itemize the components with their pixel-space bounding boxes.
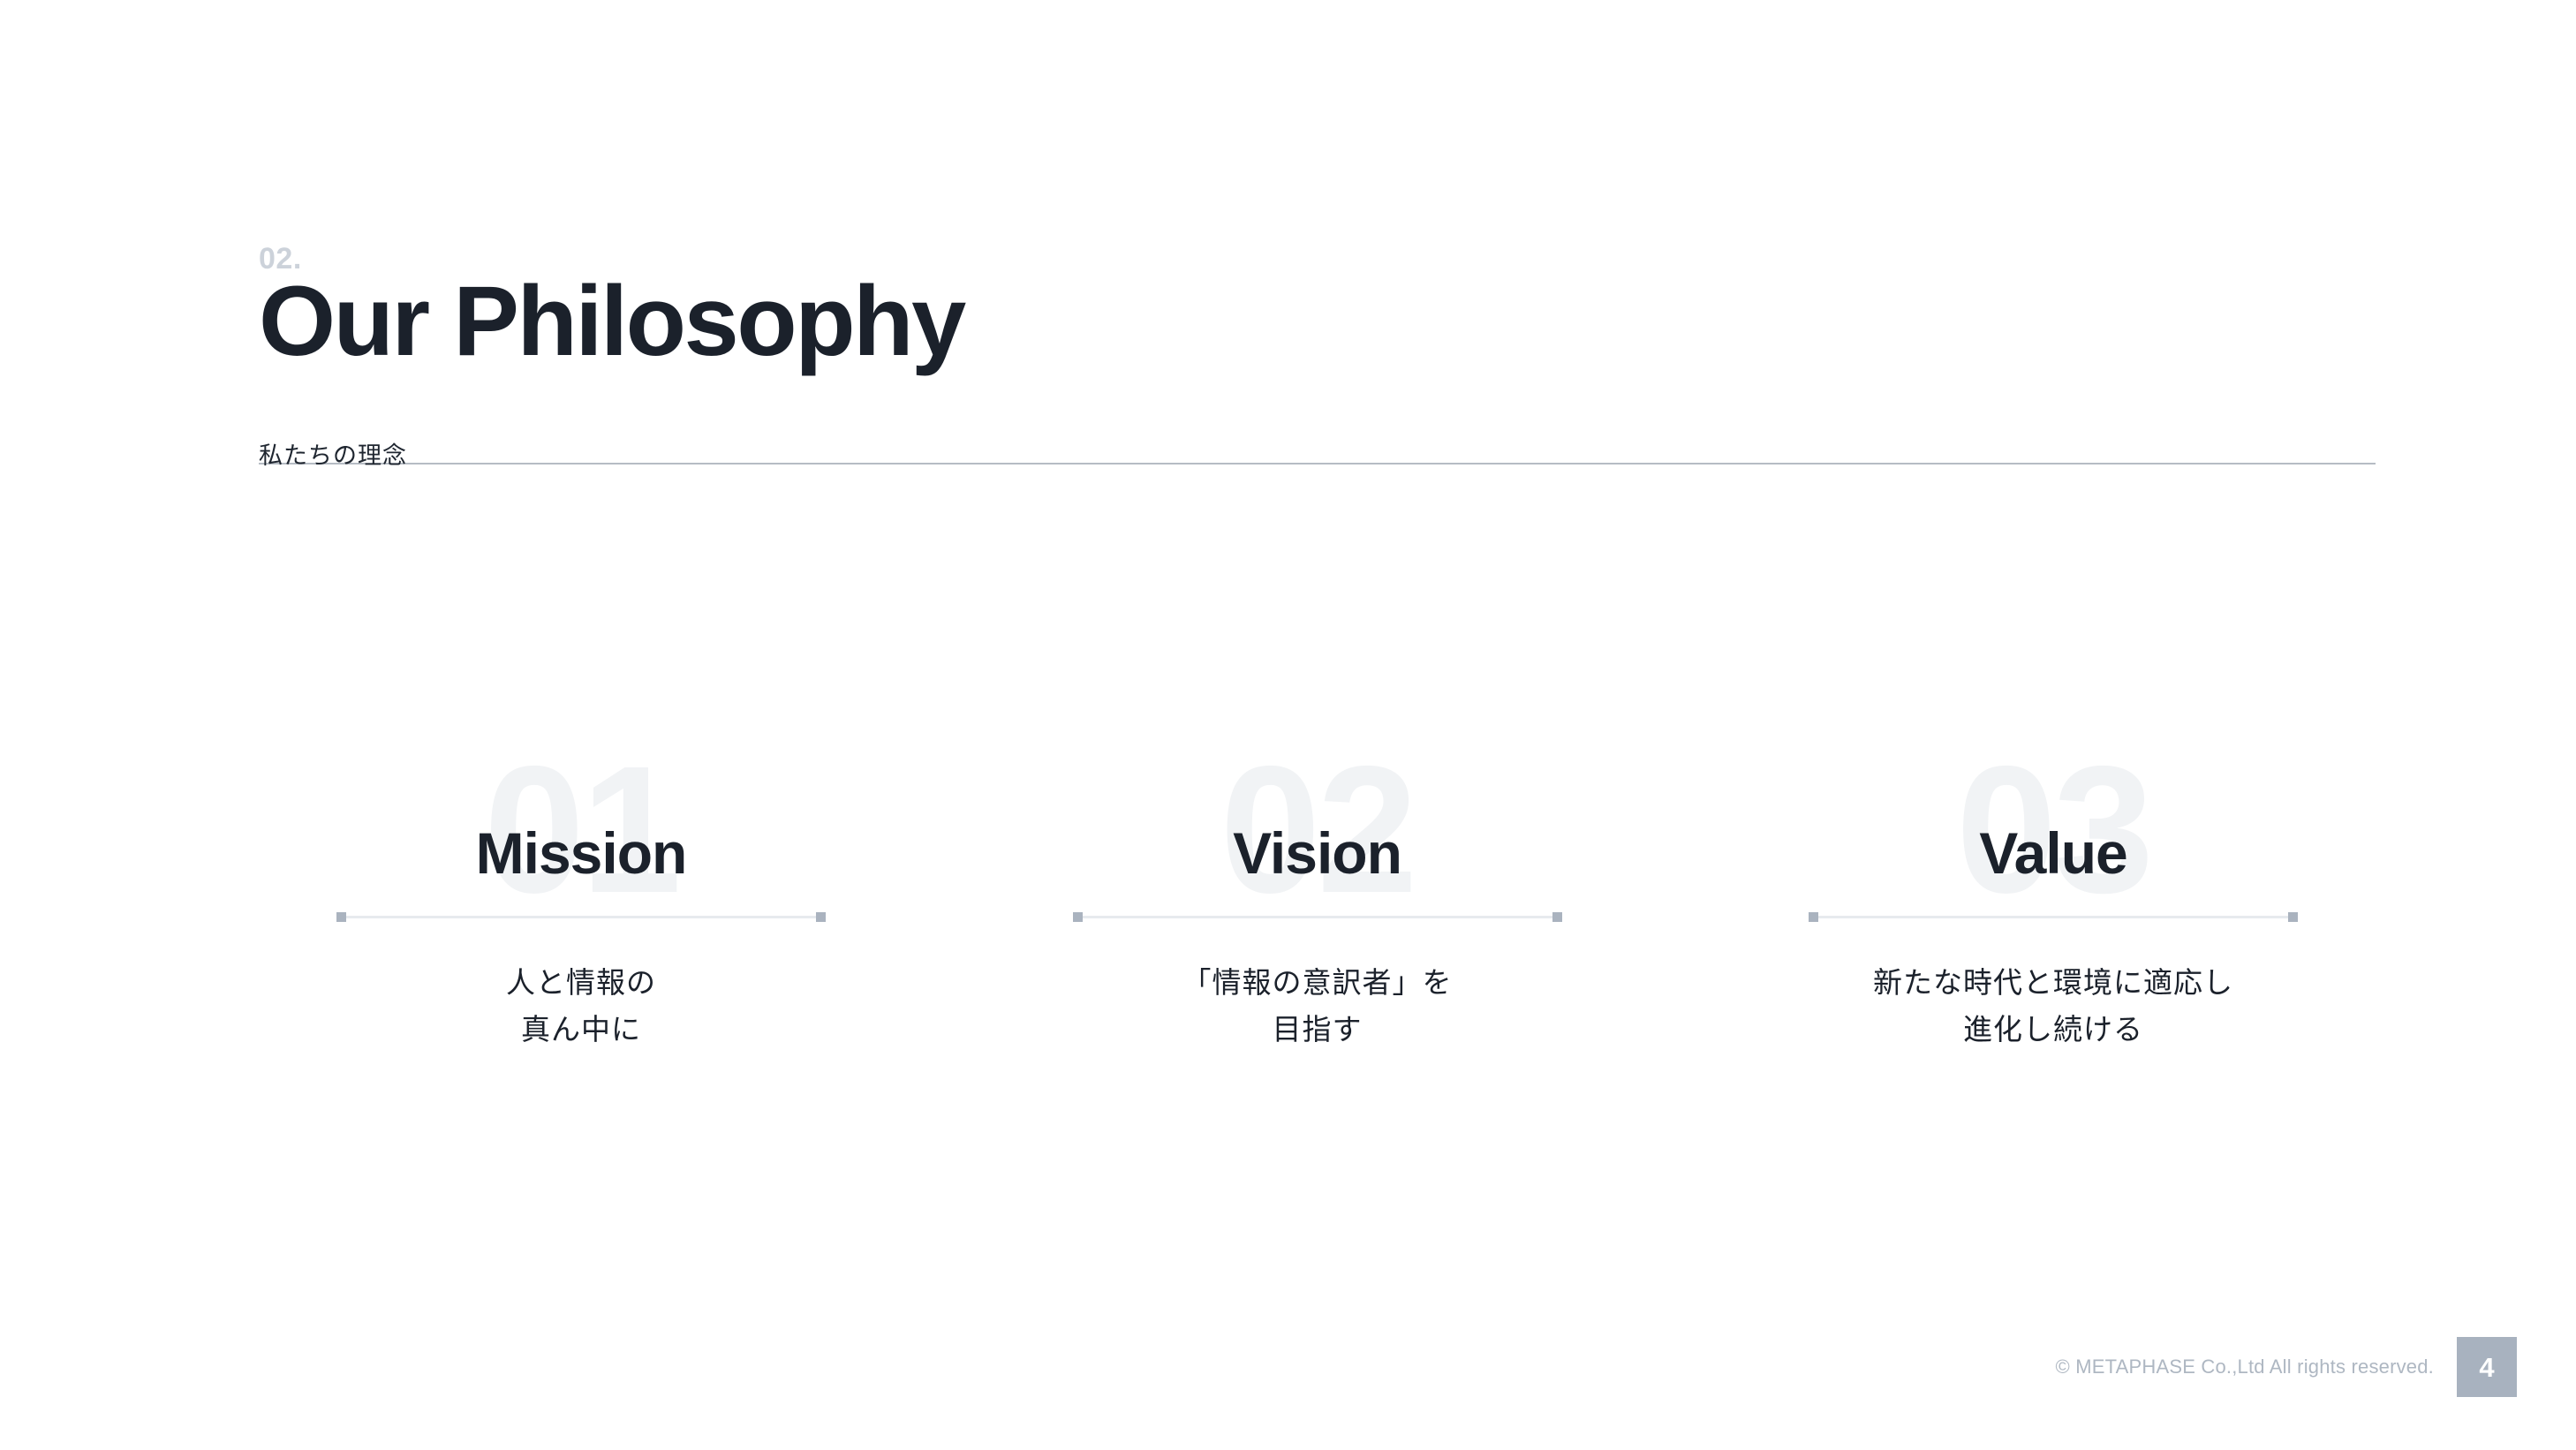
column-divider-line <box>1075 916 1560 918</box>
title-underline-rule <box>259 463 2376 464</box>
slide-canvas: 02. Our Philosophy 私たちの理念 01 Mission 人と情… <box>0 0 2576 1450</box>
column-body-vision: 「情報の意訳者」を 目指す <box>1182 959 1453 1054</box>
column-body-line-2: 真ん中に <box>506 1006 656 1053</box>
title-row: Our Philosophy <box>259 286 2378 401</box>
column-title-vision: Vision <box>1233 824 1401 882</box>
column-body-value: 新たな時代と環境に適応し 進化し続ける <box>1873 959 2233 1054</box>
page-number-badge: 4 <box>2457 1337 2517 1397</box>
copyright-text: © METAPHASE Co.,Ltd All rights reserved. <box>2055 1357 2434 1377</box>
column-body-line-1: 「情報の意訳者」を <box>1182 959 1453 1006</box>
column-title-mission: Mission <box>476 824 687 882</box>
column-title-value: Value <box>1979 824 2127 882</box>
page-title: Our Philosophy <box>259 272 977 371</box>
philosophy-columns: 01 Mission 人と情報の 真ん中に 02 Vision 「情報の意訳者」… <box>259 755 2376 1054</box>
page-subtitle: 私たちの理念 <box>259 444 407 468</box>
column-body-line-1: 新たな時代と環境に適応し <box>1873 959 2233 1006</box>
column-head: 03 Value <box>1731 755 2376 927</box>
column-divider-line <box>1810 916 2296 918</box>
column-body-line-2: 目指す <box>1182 1006 1453 1053</box>
slide-footer: © METAPHASE Co.,Ltd All rights reserved.… <box>2055 1337 2517 1397</box>
philosophy-column-value: 03 Value 新たな時代と環境に適応し 進化し続ける <box>1731 755 2376 1054</box>
column-body-mission: 人と情報の 真ん中に <box>506 959 656 1054</box>
slide-header: 02. Our Philosophy 私たちの理念 <box>259 244 2378 401</box>
philosophy-column-mission: 01 Mission 人と情報の 真ん中に <box>259 755 903 1054</box>
column-body-line-2: 進化し続ける <box>1873 1006 2233 1053</box>
column-body-line-1: 人と情報の <box>506 959 656 1006</box>
column-head: 02 Vision <box>995 755 1640 927</box>
column-divider-line <box>338 916 824 918</box>
philosophy-column-vision: 02 Vision 「情報の意訳者」を 目指す <box>995 755 1640 1054</box>
column-head: 01 Mission <box>259 755 903 927</box>
